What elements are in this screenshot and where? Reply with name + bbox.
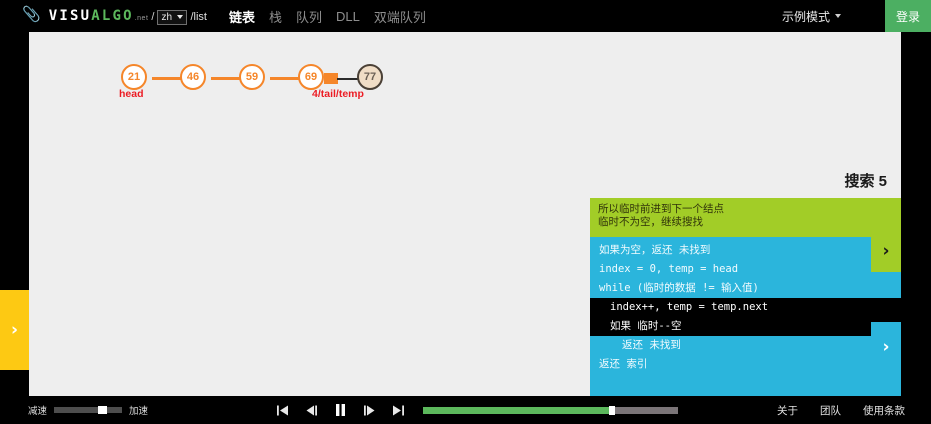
list-node-value: 69 — [305, 71, 317, 83]
visualization-canvas: 21 46 59 69 77 head 4/tail/temp 搜索 5 所以临… — [29, 32, 901, 396]
status-message-box: 所以临时前进到下一个结点 临时不为空，继续搜找 — [590, 198, 901, 237]
transport-controls — [276, 403, 405, 417]
speed-control: 减速 加速 — [28, 403, 148, 417]
paperclip-icon: 📎 — [22, 7, 41, 22]
nav-item-dll[interactable]: DLL — [336, 9, 360, 24]
footer-links: 关于 团队 使用条款 — [777, 403, 905, 418]
site-logo[interactable]: 📎 VISUALGO .net / zh /list — [22, 8, 207, 25]
logo-slash-1: / — [151, 11, 154, 23]
chevron-right-icon: › — [11, 320, 18, 340]
progress-slider[interactable] — [423, 407, 678, 414]
skip-to-start-icon — [276, 404, 289, 417]
left-panel-toggle[interactable]: › — [0, 290, 29, 370]
code-line-5: 返还 未找到 — [590, 336, 901, 355]
skip-to-end-button[interactable] — [392, 404, 405, 417]
footer-link-team[interactable]: 团队 — [820, 403, 841, 418]
page-title: 搜索 5 — [844, 170, 887, 191]
logo-algo-text: ALGO — [91, 8, 134, 24]
code-panel-toggle[interactable]: › — [871, 322, 901, 372]
list-node-1[interactable]: 46 — [180, 64, 206, 90]
speed-fast-label: 加速 — [129, 403, 148, 417]
list-node-0[interactable]: 21 — [121, 64, 147, 90]
code-line-3: index++, temp = temp.next — [590, 298, 901, 317]
chevron-right-icon: › — [882, 337, 889, 357]
progress-slider-fill — [423, 407, 609, 414]
speed-slider-handle[interactable] — [98, 406, 107, 414]
footer-link-terms[interactable]: 使用条款 — [863, 403, 905, 418]
step-forward-icon — [363, 404, 376, 417]
code-line-6: 返还 索引 — [590, 355, 901, 374]
code-line-4: 如果 临时--空 — [590, 317, 901, 336]
logo-path-text: /list — [190, 11, 207, 23]
step-forward-button[interactable] — [363, 404, 376, 417]
status-line-2: 临时不为空，继续搜找 — [598, 216, 893, 229]
step-back-button[interactable] — [305, 404, 318, 417]
language-select-value: zh — [161, 11, 172, 24]
list-node-value: 77 — [364, 71, 376, 83]
list-node-3[interactable]: 69 — [298, 64, 324, 90]
login-button-label: 登录 — [896, 8, 920, 25]
chevron-down-icon — [177, 15, 183, 19]
mode-selector[interactable]: 示例模式 — [782, 8, 841, 25]
login-button[interactable]: 登录 — [885, 0, 931, 32]
speed-slider[interactable] — [54, 407, 122, 413]
chevron-down-icon — [835, 14, 841, 18]
chevron-right-icon: › — [882, 241, 889, 261]
status-panel-toggle[interactable]: › — [871, 230, 901, 272]
list-node-2[interactable]: 59 — [239, 64, 265, 90]
code-line-2: while (临时的数据 != 输入值) — [590, 279, 901, 298]
pseudocode-panel: 如果为空，返还 未找到 index = 0, temp = head while… — [590, 237, 901, 396]
skip-to-start-button[interactable] — [276, 404, 289, 417]
code-line-0: 如果为空，返还 未找到 — [590, 241, 901, 260]
pointer-label-head: head — [119, 88, 144, 100]
logo-visu-text: VISU — [49, 8, 92, 24]
list-node-value: 21 — [128, 71, 140, 83]
top-navigation-bar: 📎 VISUALGO .net / zh /list 链表 栈 队列 DLL 双… — [0, 0, 931, 32]
pause-icon — [334, 403, 347, 417]
nav-item-linked-list[interactable]: 链表 — [229, 7, 255, 26]
progress-slider-handle[interactable] — [609, 406, 615, 415]
footer-link-about[interactable]: 关于 — [777, 403, 798, 418]
mode-selector-label: 示例模式 — [782, 8, 830, 25]
linked-list-diagram: 21 46 59 69 77 head 4/tail/temp — [29, 32, 901, 152]
status-line-1: 所以临时前进到下一个结点 — [598, 203, 893, 216]
code-line-1: index = 0, temp = head — [590, 260, 901, 279]
logo-wordmark: VISUALGO — [49, 8, 134, 24]
step-back-icon — [305, 404, 318, 417]
speed-slow-label: 减速 — [28, 403, 47, 417]
list-node-4[interactable]: 77 — [357, 64, 383, 90]
list-node-value: 59 — [246, 71, 258, 83]
pointer-box — [324, 73, 338, 84]
nav-item-deque[interactable]: 双端队列 — [374, 7, 426, 26]
list-node-value: 46 — [187, 71, 199, 83]
top-bar-right: 示例模式 登录 — [782, 0, 931, 32]
logo-domain-suffix: .net — [135, 15, 149, 22]
playback-control-bar: 减速 加速 — [0, 396, 931, 424]
pointer-label-tail-temp: 4/tail/temp — [312, 88, 364, 100]
nav-item-stack[interactable]: 栈 — [269, 7, 282, 26]
visualgo-app: 📎 VISUALGO .net / zh /list 链表 栈 队列 DLL 双… — [0, 0, 931, 424]
main-nav: 链表 栈 队列 DLL 双端队列 — [229, 7, 426, 26]
pause-button[interactable] — [334, 403, 347, 417]
language-select[interactable]: zh — [157, 10, 187, 25]
nav-item-queue[interactable]: 队列 — [296, 7, 322, 26]
skip-to-end-icon — [392, 404, 405, 417]
